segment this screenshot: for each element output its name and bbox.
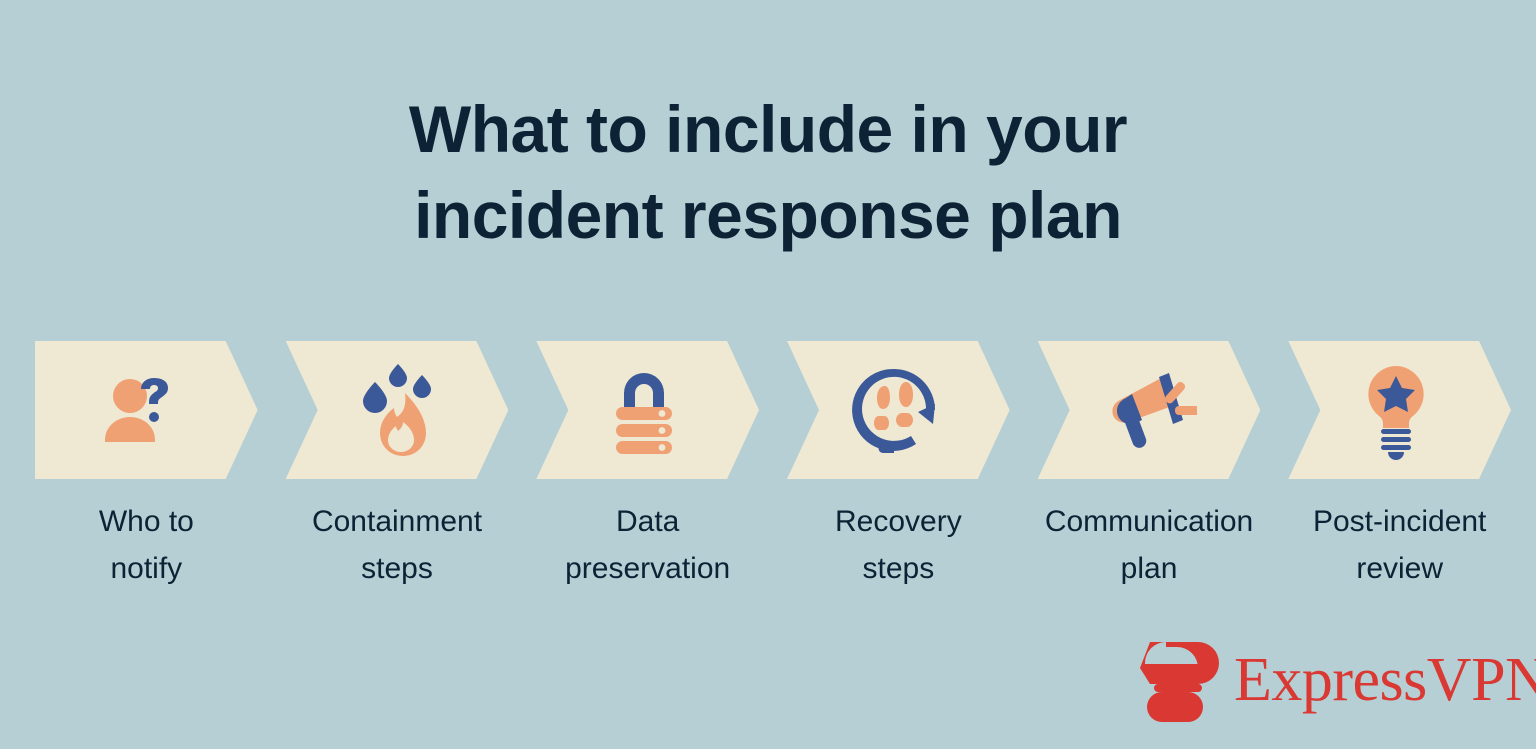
step-label-4-line-2: steps	[787, 545, 1010, 592]
step-label-4-line-1: Recovery	[787, 498, 1010, 545]
step-label-3-line-1: Data	[536, 498, 759, 545]
step-label-3-line-2: preservation	[536, 545, 759, 592]
process-label-row: Who to notify Containment steps Data pre…	[35, 498, 1511, 598]
chevron-gap	[759, 341, 787, 479]
lock-database-icon	[592, 358, 696, 462]
step-label-5: Communication plan	[1038, 498, 1261, 598]
label-gap	[508, 498, 536, 598]
label-gap	[258, 498, 286, 598]
step-label-1-line-2: notify	[35, 545, 258, 592]
label-gap	[1260, 498, 1288, 598]
step-label-6-line-2: review	[1288, 545, 1511, 592]
step-label-2: Containment steps	[286, 498, 509, 598]
chevron-step-1	[35, 341, 258, 479]
label-gap	[759, 498, 787, 598]
chevron-gap	[1010, 341, 1038, 479]
step-label-5-line-2: plan	[1038, 545, 1261, 592]
expressvpn-e-mark-icon	[1136, 638, 1228, 722]
step-label-6: Post-incident review	[1288, 498, 1511, 598]
step-label-1: Who to notify	[35, 498, 258, 598]
lightbulb-star-icon	[1344, 358, 1448, 462]
chevron-step-3	[536, 341, 759, 479]
page-title-line-1: What to include in your	[0, 86, 1536, 172]
footprints-circular-arrow-icon	[842, 358, 946, 462]
person-question-icon	[90, 358, 194, 462]
expressvpn-logo: ExpressVPN	[1136, 638, 1536, 722]
chevron-gap	[258, 341, 286, 479]
step-label-6-line-1: Post-incident	[1288, 498, 1511, 545]
fire-water-drops-icon	[341, 358, 445, 462]
step-label-4: Recovery steps	[787, 498, 1010, 598]
step-label-3: Data preservation	[536, 498, 759, 598]
chevron-step-5	[1038, 341, 1261, 479]
chevron-step-6	[1288, 341, 1511, 479]
step-label-1-line-1: Who to	[35, 498, 258, 545]
chevron-step-2	[286, 341, 509, 479]
megaphone-icon	[1093, 358, 1197, 462]
page-title: What to include in your incident respons…	[0, 86, 1536, 258]
step-label-5-line-1: Communication	[1038, 498, 1261, 545]
chevron-gap	[508, 341, 536, 479]
label-gap	[1010, 498, 1038, 598]
step-label-2-line-1: Containment	[286, 498, 509, 545]
expressvpn-wordmark: ExpressVPN	[1234, 649, 1536, 711]
step-label-2-line-2: steps	[286, 545, 509, 592]
process-chevron-row	[35, 341, 1511, 479]
page-title-line-2: incident response plan	[0, 172, 1536, 258]
chevron-step-4	[787, 341, 1010, 479]
chevron-gap	[1260, 341, 1288, 479]
